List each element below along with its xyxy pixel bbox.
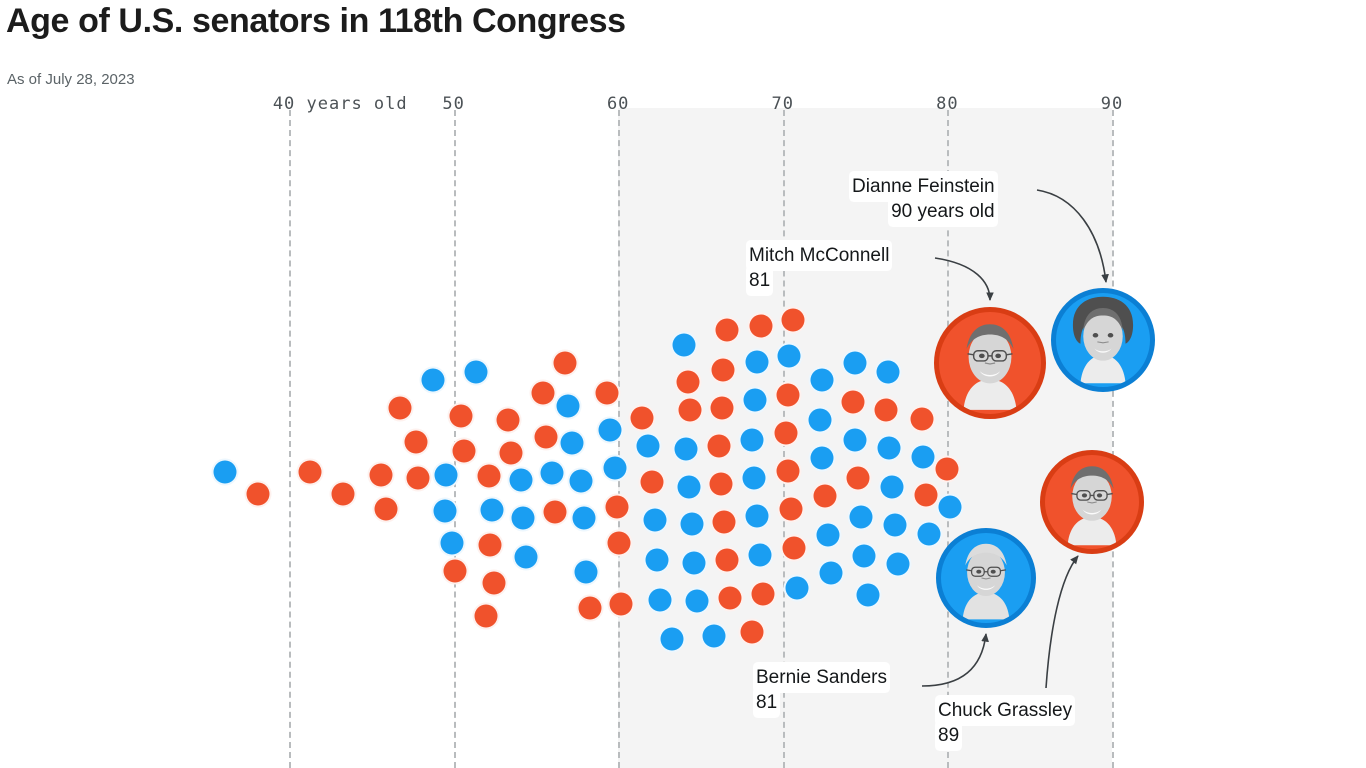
annotation-grassley-age: 89 [938, 723, 959, 748]
annotation-grassley-name: Chuck Grassley [938, 698, 1072, 723]
senator-dot [701, 623, 728, 650]
senator-dot [916, 521, 943, 548]
senator-dot [747, 542, 774, 569]
gridline-40 [289, 110, 291, 768]
senator-dot [744, 349, 771, 376]
senator-dot [604, 494, 631, 521]
senator-dot [717, 585, 744, 612]
senator-dot [498, 440, 525, 467]
senator-dot [659, 626, 686, 653]
senator-dot [451, 438, 478, 465]
senator-dot [679, 511, 706, 538]
senator-dot [403, 429, 430, 456]
senator-dot [812, 483, 839, 510]
senator-dot [714, 547, 741, 574]
senator-dot [647, 587, 674, 614]
senator-dot [681, 550, 708, 577]
senator-dot [368, 462, 395, 489]
senator-dot [742, 387, 769, 414]
senator-dot [710, 357, 737, 384]
senator-dot [709, 395, 736, 422]
senator-dot [629, 405, 656, 432]
senator-dot [542, 499, 569, 526]
chart-canvas: Age of U.S. senators in 118th Congress A… [0, 0, 1366, 768]
senator-dot [212, 459, 239, 486]
annotation-feinstein-name: Dianne Feinstein [852, 174, 995, 199]
senator-dot [463, 359, 490, 386]
senator-dot [673, 436, 700, 463]
senator-dot [635, 433, 662, 460]
senator-dot [913, 482, 940, 509]
senator-dot [602, 455, 629, 482]
senator-dot [744, 503, 771, 530]
senator-dot [642, 507, 669, 534]
senator-dot [439, 530, 466, 557]
annotation-mcconnell-name: Mitch McConnell [749, 243, 889, 268]
senator-dot [739, 427, 766, 454]
senator-dot [297, 459, 324, 486]
senator-dot [405, 465, 432, 492]
senator-dot [675, 369, 702, 396]
senator-dot [677, 397, 704, 424]
senator-dot [433, 462, 460, 489]
senator-dot [577, 595, 604, 622]
senator-dot [873, 397, 900, 424]
senator-dot [848, 504, 875, 531]
senator-dot [807, 407, 834, 434]
senator-dot [711, 509, 738, 536]
senator-dot [818, 560, 845, 587]
senator-dot [573, 559, 600, 586]
senator-dot [533, 424, 560, 451]
beeswarm-plot: 40 years old5060708090 [0, 0, 1366, 768]
portrait-sanders [936, 528, 1036, 628]
annotation-grassley: Chuck Grassley 89 [938, 698, 1072, 748]
annotation-sanders-name: Bernie Sanders [756, 665, 887, 690]
senator-dot [748, 313, 775, 340]
senator-dot [876, 435, 903, 462]
senator-dot [594, 380, 621, 407]
annotation-sanders: Bernie Sanders 81 [756, 665, 887, 715]
senator-dot [776, 343, 803, 370]
annotation-mcconnell: Mitch McConnell 81 [749, 243, 889, 293]
senator-dot [644, 547, 671, 574]
senator-dot [597, 417, 624, 444]
senator-dot [481, 570, 508, 597]
senator-dot [387, 395, 414, 422]
senator-dot [840, 389, 867, 416]
senator-dot [875, 359, 902, 386]
senator-dot [508, 467, 535, 494]
senator-dot [934, 456, 961, 483]
senator-dot [714, 317, 741, 344]
senator-dot [910, 444, 937, 471]
senator-dot [750, 581, 777, 608]
senator-dot [473, 603, 500, 630]
tick-label-50: 50 [442, 94, 464, 114]
senator-dot [442, 558, 469, 585]
senator-dot [559, 430, 586, 457]
senator-dot [684, 588, 711, 615]
senator-dot [775, 382, 802, 409]
senator-dot [530, 380, 557, 407]
tick-label-90: 90 [1101, 94, 1123, 114]
senator-dot [937, 494, 964, 521]
senator-dot [568, 468, 595, 495]
senator-dot [552, 350, 579, 377]
senator-dot [477, 532, 504, 559]
senator-dot [778, 496, 805, 523]
senator-dot [245, 481, 272, 508]
senator-dot [845, 465, 872, 492]
senator-dot [842, 350, 869, 377]
senator-dot [510, 505, 537, 532]
senator-dot [739, 619, 766, 646]
tick-label-80: 80 [936, 94, 958, 114]
annotation-feinstein-age: 90 years old [891, 199, 995, 224]
annotation-mcconnell-age: 81 [749, 268, 770, 293]
portrait-mcconnell [934, 307, 1046, 419]
senator-dot [775, 458, 802, 485]
portrait-feinstein [1051, 288, 1155, 392]
annotation-feinstein: Dianne Feinstein 90 years old [852, 174, 995, 224]
senator-dot [855, 582, 882, 609]
senator-dot [606, 530, 633, 557]
tick-label-40: 40 years old [273, 94, 408, 114]
senator-dot [809, 445, 836, 472]
senator-dot [784, 575, 811, 602]
senator-dot [851, 543, 878, 570]
senator-dot [639, 469, 666, 496]
portrait-grassley [1040, 450, 1144, 554]
senator-dot [676, 474, 703, 501]
senator-dot [671, 332, 698, 359]
senator-dot [495, 407, 522, 434]
senator-dot [539, 460, 566, 487]
senator-dot [448, 403, 475, 430]
senator-dot [373, 496, 400, 523]
senator-dot [885, 551, 912, 578]
senator-dot [882, 512, 909, 539]
senator-dot [608, 591, 635, 618]
senator-dot [513, 544, 540, 571]
senator-dot [555, 393, 582, 420]
senator-dot [432, 498, 459, 525]
senator-dot [879, 474, 906, 501]
senator-dot [708, 471, 735, 498]
senator-dot [773, 420, 800, 447]
senator-dot [706, 433, 733, 460]
tick-label-70: 70 [772, 94, 794, 114]
senator-dot [571, 505, 598, 532]
senator-dot [741, 465, 768, 492]
gridline-90 [1112, 110, 1114, 768]
senator-dot [809, 367, 836, 394]
senator-dot [781, 535, 808, 562]
senator-dot [330, 481, 357, 508]
annotation-sanders-age: 81 [756, 690, 777, 715]
tick-label-60: 60 [607, 94, 629, 114]
senator-dot [780, 307, 807, 334]
senator-dot [842, 427, 869, 454]
senator-dot [476, 463, 503, 490]
senator-dot [420, 367, 447, 394]
senator-dot [909, 406, 936, 433]
senator-dot [815, 522, 842, 549]
senator-dot [479, 497, 506, 524]
